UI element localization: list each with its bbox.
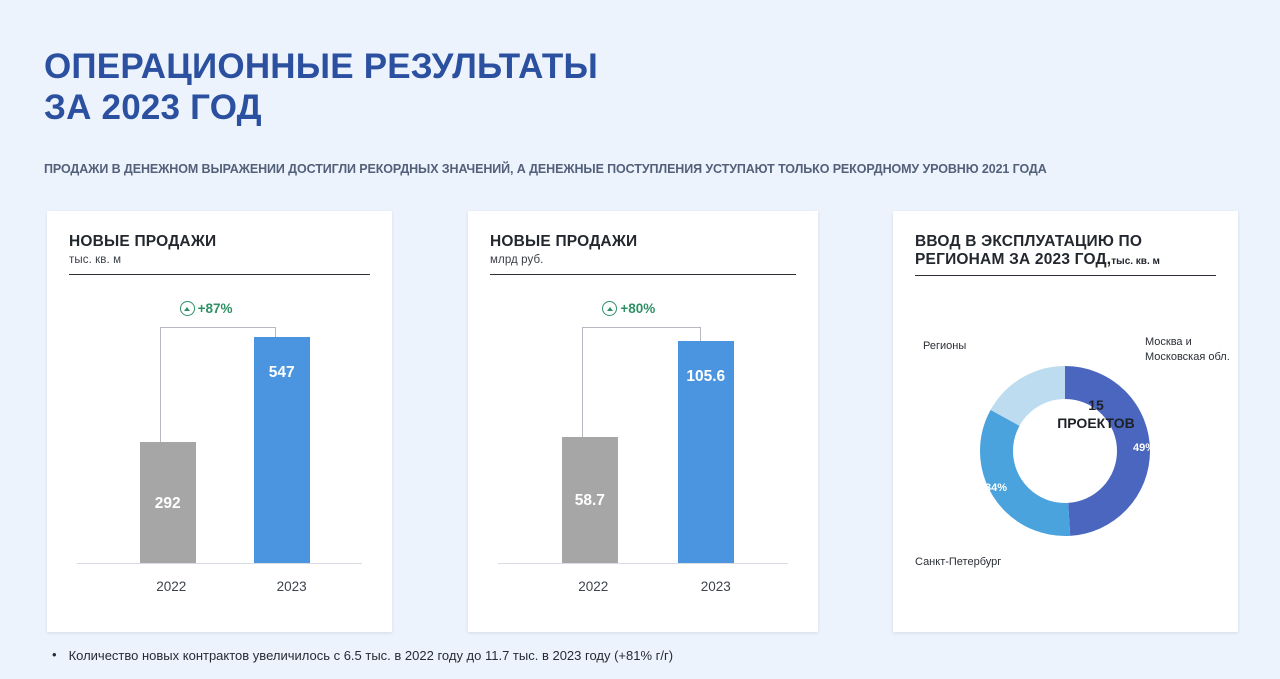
donut-svg bbox=[905, 301, 1225, 601]
x-axis-line bbox=[498, 563, 788, 564]
bar-2023: 105.6 bbox=[678, 341, 734, 563]
card-new-sales-money: НОВЫЕ ПРОДАЖИ млрд руб. +80% 58.7 bbox=[468, 211, 818, 632]
bar-value-2023: 547 bbox=[254, 364, 310, 382]
bar-column-2022: 292 bbox=[140, 442, 196, 563]
x-tick-2023: 2023 bbox=[252, 579, 332, 594]
growth-badge: +80% bbox=[602, 301, 655, 316]
bar-column-2023: 105.6 bbox=[678, 341, 734, 563]
card-header: НОВЫЕ ПРОДАЖИ млрд руб. bbox=[468, 233, 818, 275]
growth-value: +87% bbox=[198, 301, 233, 316]
plot-area: +80% 58.7 105.6 bbox=[498, 289, 788, 564]
plot-area: +87% 292 547 bbox=[77, 289, 362, 564]
card-title-main: ВВОД В ЭКСПЛУАТАЦИЮ ПО РЕГИОНАМ ЗА 2023 … bbox=[915, 233, 1142, 268]
bar-value-2022: 58.7 bbox=[562, 492, 618, 510]
x-tick-2023: 2023 bbox=[676, 579, 756, 594]
card-header: НОВЫЕ ПРОДАЖИ тыс. кв. м bbox=[47, 233, 392, 275]
circle-up-icon bbox=[180, 301, 195, 316]
footer-text: Количество новых контрактов увеличилось … bbox=[69, 648, 674, 663]
card-new-sales-area: НОВЫЕ ПРОДАЖИ тыс. кв. м +87% 292 bbox=[47, 211, 392, 632]
bar-value-2023: 105.6 bbox=[678, 368, 734, 386]
card-commissioning-by-region: ВВОД В ЭКСПЛУАТАЦИЮ ПО РЕГИОНАМ ЗА 2023 … bbox=[893, 211, 1238, 632]
circle-up-icon bbox=[602, 301, 617, 316]
growth-badge: +87% bbox=[180, 301, 233, 316]
page-title: ОПЕРАЦИОННЫЕ РЕЗУЛЬТАТЫ ЗА 2023 ГОД bbox=[44, 46, 598, 129]
bar-2022: 292 bbox=[140, 442, 196, 563]
donut-chart: 15 ПРОЕКТОВ 49% 34% 17% Москва и Московс… bbox=[893, 297, 1238, 622]
card-unit: тыс. кв. м bbox=[69, 254, 370, 266]
bar-value-2022: 292 bbox=[140, 495, 196, 513]
x-tick-2022: 2022 bbox=[131, 579, 211, 594]
card-title: ВВОД В ЭКСПЛУАТАЦИЮ ПО РЕГИОНАМ ЗА 2023 … bbox=[915, 233, 1216, 270]
card-title: НОВЫЕ ПРОДАЖИ bbox=[490, 233, 796, 251]
bar-chart-money: +80% 58.7 105.6 2022 2023 bbox=[490, 289, 796, 610]
bar-chart-area: +87% 292 547 2022 2 bbox=[69, 289, 370, 610]
page-subtitle: ПРОДАЖИ В ДЕНЕЖНОМ ВЫРАЖЕНИИ ДОСТИГЛИ РЕ… bbox=[44, 161, 1224, 178]
card-header: ВВОД В ЭКСПЛУАТАЦИЮ ПО РЕГИОНАМ ЗА 2023 … bbox=[893, 233, 1238, 276]
bullet-icon: • bbox=[52, 648, 57, 662]
bar-2022: 58.7 bbox=[562, 437, 618, 563]
x-axis-line bbox=[77, 563, 362, 564]
divider bbox=[69, 274, 370, 275]
bar-column-2022: 58.7 bbox=[562, 437, 618, 563]
divider bbox=[915, 275, 1216, 276]
x-tick-2022: 2022 bbox=[553, 579, 633, 594]
card-unit: млрд руб. bbox=[490, 254, 796, 266]
footer-note: • Количество новых контрактов увеличилос… bbox=[52, 648, 673, 663]
card-title-unit: тыс. кв. м bbox=[1111, 256, 1160, 267]
slide-root: ОПЕРАЦИОННЫЕ РЕЗУЛЬТАТЫ ЗА 2023 ГОД ПРОД… bbox=[0, 0, 1280, 679]
card-title: НОВЫЕ ПРОДАЖИ bbox=[69, 233, 370, 251]
divider bbox=[490, 274, 796, 275]
bar-column-2023: 547 bbox=[254, 337, 310, 563]
bar-2023: 547 bbox=[254, 337, 310, 563]
growth-value: +80% bbox=[620, 301, 655, 316]
